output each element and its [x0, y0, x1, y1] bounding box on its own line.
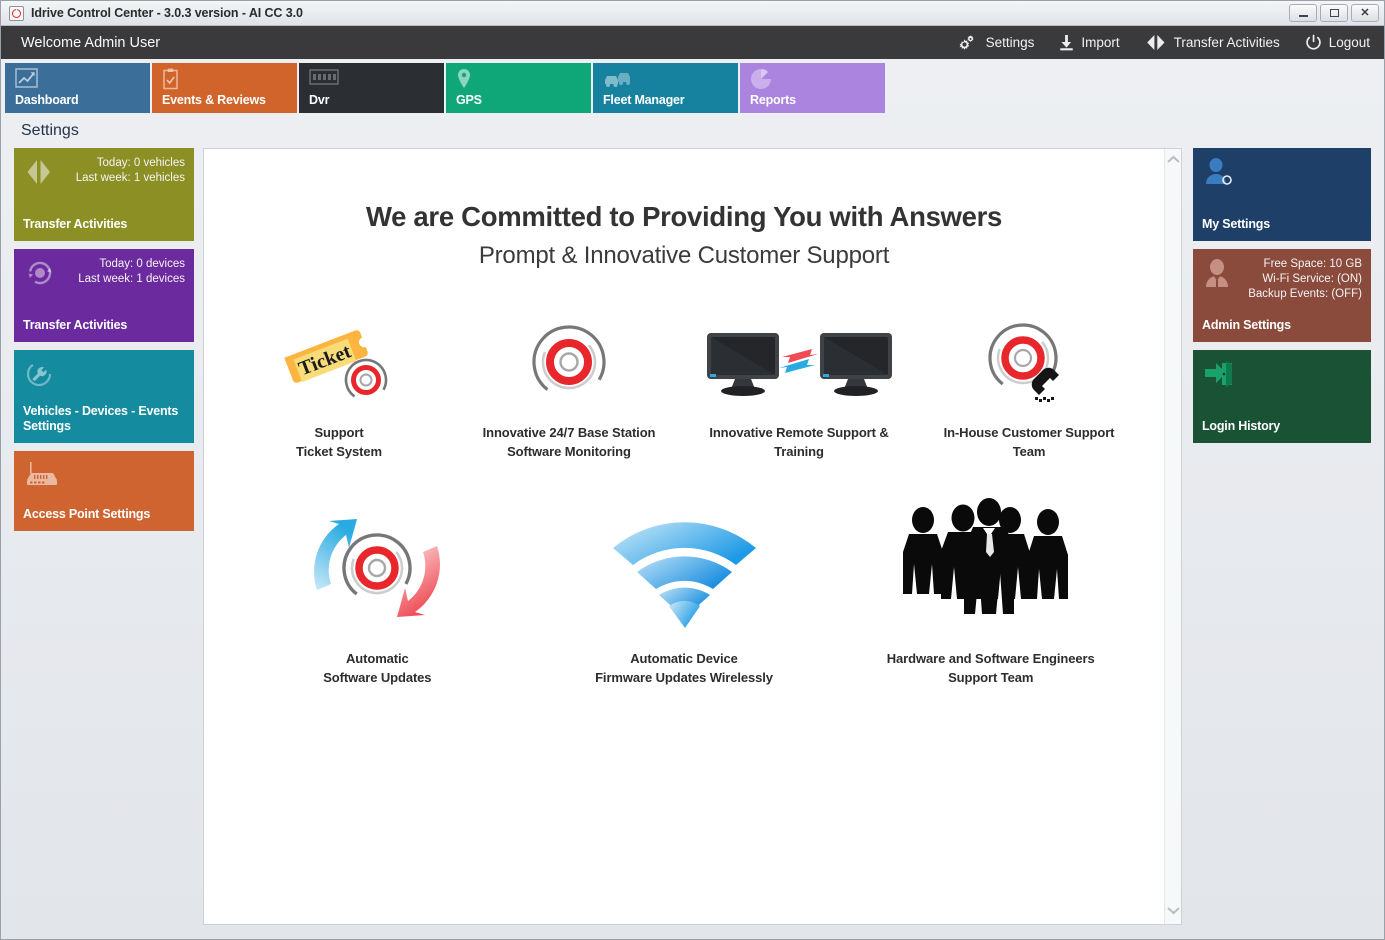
main-tab-strip: Dashboard Events & Reviews: [1, 59, 1384, 114]
window-title: Idrive Control Center - 3.0.3 version - …: [31, 6, 303, 20]
remote-monitors-icon: [702, 312, 897, 412]
feature-in-house-support-team: In-House Customer Support Team: [914, 312, 1144, 462]
stat-last-week: Last week: 1 vehicles: [76, 172, 185, 184]
logout-button[interactable]: Logout: [1305, 34, 1370, 51]
top-action-bar: Welcome Admin User: [1, 26, 1384, 59]
pie-chart-icon: [750, 68, 877, 90]
feature-base-station-monitoring: Innovative 24/7 Base Station Software Mo…: [454, 312, 684, 462]
tab-dashboard-label: Dashboard: [15, 93, 142, 107]
sidebar-item-label: Login History: [1202, 419, 1362, 434]
feature-caption: Innovative Remote Support & Training: [709, 424, 888, 462]
tab-gps[interactable]: GPS: [446, 63, 591, 113]
content-panel: We are Committed to Providing You with A…: [203, 148, 1182, 925]
maximize-icon[interactable]: [1320, 4, 1348, 22]
caption-line-1: Support: [314, 425, 363, 440]
feature-caption: Hardware and Software Engineers Support …: [887, 650, 1095, 688]
transfer-arrows-icon: [1145, 34, 1167, 51]
caption-line-2: Support Team: [948, 670, 1033, 685]
feature-caption: Support Ticket System: [296, 424, 382, 462]
gears-icon: [957, 34, 979, 52]
feature-remote-support-training: Innovative Remote Support & Training: [684, 312, 914, 462]
feature-caption: Automatic Software Updates: [323, 650, 431, 688]
transfer-arrows-icon: [23, 156, 55, 193]
caption-line-1: Hardware and Software Engineers: [887, 651, 1095, 666]
page-title: Settings: [1, 114, 1384, 148]
target-phone-icon: [977, 312, 1082, 412]
transfer-activities-button[interactable]: Transfer Activities: [1145, 34, 1280, 51]
sidebar-item-transfer-activities-vehicles[interactable]: Today: 0 vehicles Last week: 1 vehicles …: [14, 148, 194, 241]
import-button[interactable]: Import: [1059, 34, 1119, 51]
feature-caption: Innovative 24/7 Base Station Software Mo…: [483, 424, 656, 462]
chart-growth-icon: [15, 68, 142, 90]
sidebar-item-login-history[interactable]: Login History: [1193, 350, 1371, 443]
vehicles-icon: [603, 68, 730, 90]
tile-stats: Today: 0 devices Last week: 1 devices: [78, 257, 185, 287]
content-scrollbar[interactable]: [1164, 149, 1181, 924]
content-scroll-area: We are Committed to Providing You with A…: [204, 149, 1164, 924]
tab-reports[interactable]: Reports: [740, 63, 885, 113]
caption-line-2: Team: [1013, 444, 1046, 459]
caption-line-1: In-House Customer Support: [944, 425, 1115, 440]
caption-line-2: Firmware Updates Wirelessly: [595, 670, 773, 685]
stat-wifi-service: Wi-Fi Service: (ON): [1262, 273, 1362, 285]
map-pin-icon: [456, 68, 583, 90]
stat-today: Today: 0 devices: [99, 258, 185, 270]
stat-today: Today: 0 vehicles: [97, 157, 185, 169]
login-arrow-icon: [1202, 358, 1236, 393]
caption-line-1: Innovative Remote Support &: [709, 425, 888, 440]
welcome-message: Welcome Admin User: [21, 35, 160, 51]
caption-line-2: Software Updates: [323, 670, 431, 685]
feature-support-ticket-system: Ticket Support: [224, 312, 454, 462]
support-page: We are Committed to Providing You with A…: [204, 149, 1164, 687]
transfer-activities-label: Transfer Activities: [1174, 35, 1280, 50]
stat-last-week: Last week: 1 devices: [78, 273, 185, 285]
auto-update-cycle-icon: [287, 498, 467, 638]
page-body: Today: 0 vehicles Last week: 1 vehicles …: [1, 148, 1384, 939]
sidebar-item-label: Transfer Activities: [23, 318, 185, 333]
admin-user-icon: [1202, 257, 1232, 294]
feature-engineers-support-team: Hardware and Software Engineers Support …: [837, 498, 1144, 688]
right-sidebar: My Settings Free Space: 10 GB Wi: [1193, 148, 1371, 925]
caption-line-2: Software Monitoring: [507, 444, 631, 459]
sidebar-item-vehicles-devices-events-settings[interactable]: Vehicles - Devices - Events Settings: [14, 350, 194, 443]
tab-fleet-manager-label: Fleet Manager: [603, 93, 730, 107]
sidebar-item-label: Transfer Activities: [23, 217, 185, 232]
clipboard-check-icon: [162, 68, 289, 90]
top-actions-group: Settings Import Transf: [957, 34, 1370, 52]
title-bar: Idrive Control Center - 3.0.3 version - …: [1, 1, 1384, 26]
sidebar-item-admin-settings[interactable]: Free Space: 10 GB Wi-Fi Service: (ON) Ba…: [1193, 249, 1371, 342]
tile-stats: Today: 0 vehicles Last week: 1 vehicles: [76, 156, 185, 186]
support-subheading: Prompt & Innovative Customer Support: [224, 242, 1144, 270]
tab-dvr-label: Dvr: [309, 93, 436, 107]
support-ticket-icon: Ticket: [284, 312, 394, 412]
sidebar-item-label: Access Point Settings: [23, 507, 185, 522]
dvr-box-icon: [309, 68, 436, 90]
tab-events-reviews-label: Events & Reviews: [162, 93, 289, 107]
close-icon[interactable]: ✕: [1351, 4, 1379, 22]
caption-line-1: Automatic Device: [630, 651, 738, 666]
left-sidebar: Today: 0 vehicles Last week: 1 vehicles …: [14, 148, 194, 925]
feature-caption: In-House Customer Support Team: [944, 424, 1115, 462]
application-window: Idrive Control Center - 3.0.3 version - …: [0, 0, 1385, 940]
sync-circle-icon: [23, 257, 57, 294]
router-icon: [23, 459, 63, 496]
feature-row-1: Ticket Support: [224, 312, 1144, 462]
chevron-down-icon[interactable]: [1167, 906, 1180, 918]
power-icon: [1305, 34, 1322, 51]
tab-reports-label: Reports: [750, 93, 877, 107]
caption-line-1: Innovative 24/7 Base Station: [483, 425, 656, 440]
tile-stats: Free Space: 10 GB Wi-Fi Service: (ON) Ba…: [1248, 257, 1362, 302]
settings-label: Settings: [986, 35, 1035, 50]
target-ring-icon: [521, 312, 617, 412]
caption-line-2: Training: [774, 444, 824, 459]
feature-caption: Automatic Device Firmware Updates Wirele…: [595, 650, 773, 688]
team-silhouette-icon: [893, 498, 1088, 638]
support-heading: We are Committed to Providing You with A…: [224, 201, 1144, 233]
sidebar-item-label: Admin Settings: [1202, 318, 1362, 333]
sidebar-item-label: My Settings: [1202, 217, 1362, 232]
user-gear-icon: [1202, 156, 1236, 193]
wifi-icon: [607, 498, 762, 638]
settings-button[interactable]: Settings: [957, 34, 1035, 52]
download-icon: [1059, 34, 1074, 51]
sidebar-item-transfer-activities-devices[interactable]: Today: 0 devices Last week: 1 devices Tr…: [14, 249, 194, 342]
sidebar-item-label: Vehicles - Devices - Events Settings: [23, 404, 185, 434]
sidebar-item-my-settings[interactable]: My Settings: [1193, 148, 1371, 241]
tab-dvr[interactable]: Dvr: [299, 63, 444, 113]
stat-backup-events: Backup Events: (OFF): [1248, 288, 1362, 300]
chevron-up-icon[interactable]: [1167, 155, 1180, 167]
tab-events-reviews[interactable]: Events & Reviews: [152, 63, 297, 113]
target-ring-icon: [9, 6, 24, 21]
import-label: Import: [1081, 35, 1119, 50]
feature-row-2: Automatic Software Updates: [224, 498, 1144, 688]
minimize-icon[interactable]: [1289, 4, 1317, 22]
tab-fleet-manager[interactable]: Fleet Manager: [593, 63, 738, 113]
logout-label: Logout: [1329, 35, 1370, 50]
stat-free-space: Free Space: 10 GB: [1264, 258, 1362, 270]
tab-gps-label: GPS: [456, 93, 583, 107]
tab-dashboard[interactable]: Dashboard: [5, 63, 150, 113]
wrench-icon: [23, 358, 55, 395]
sidebar-item-access-point-settings[interactable]: Access Point Settings: [14, 451, 194, 531]
feature-firmware-updates-wireless: Automatic Device Firmware Updates Wirele…: [531, 498, 838, 688]
window-controls: ✕: [1289, 4, 1379, 22]
caption-line-2: Ticket System: [296, 444, 382, 459]
caption-line-1: Automatic: [346, 651, 409, 666]
feature-automatic-software-updates: Automatic Software Updates: [224, 498, 531, 688]
